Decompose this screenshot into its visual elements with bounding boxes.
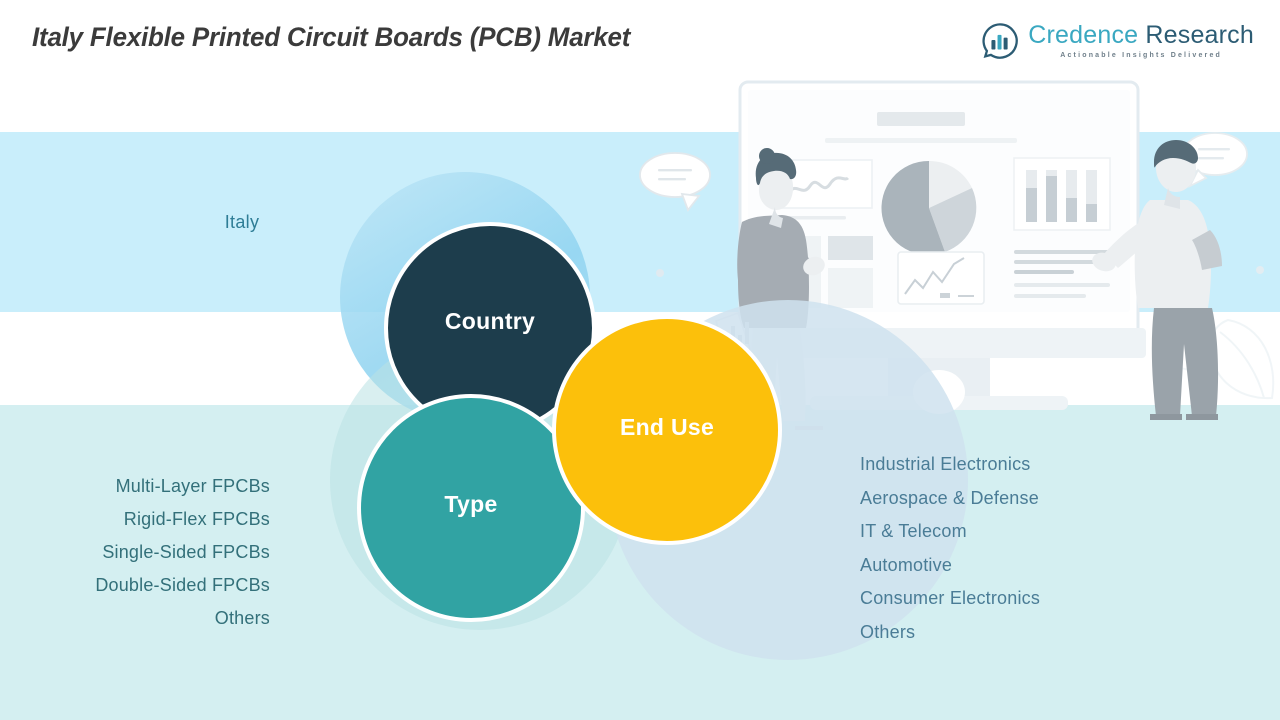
- page-title: Italy Flexible Printed Circuit Boards (P…: [32, 22, 630, 53]
- list-item: IT & Telecom: [860, 515, 1190, 549]
- list-item: Others: [860, 616, 1190, 650]
- venn-label-country: Country: [445, 308, 535, 335]
- list-item: Automotive: [860, 549, 1190, 583]
- venn-label-type: Type: [444, 491, 497, 518]
- list-item: Rigid-Flex FPCBs: [40, 503, 270, 536]
- type-segment-list: Multi-Layer FPCBs Rigid-Flex FPCBs Singl…: [40, 470, 270, 635]
- infographic-canvas: Italy Flexible Printed Circuit Boards (P…: [0, 0, 1280, 720]
- venn-circle-type[interactable]: Type: [357, 394, 585, 622]
- list-item: Multi-Layer FPCBs: [40, 470, 270, 503]
- chart-bubble-icon: [981, 22, 1019, 60]
- list-item: Aerospace & Defense: [860, 482, 1190, 516]
- pie-chart: [881, 161, 976, 255]
- list-item: Others: [40, 602, 270, 635]
- speech-bubble-left: [640, 153, 710, 210]
- venn-circle-end-use[interactable]: End Use: [552, 315, 782, 545]
- logo-name-secondary: Research: [1138, 21, 1254, 49]
- logo-name-primary: Credence: [1028, 21, 1138, 49]
- list-item: Consumer Electronics: [860, 582, 1190, 616]
- list-item: Single-Sided FPCBs: [40, 536, 270, 569]
- country-item-italy: Italy: [182, 212, 302, 233]
- logo-tagline: Actionable Insights Delivered: [1028, 52, 1254, 59]
- brand-logo: Credence Research Actionable Insights De…: [981, 22, 1254, 60]
- venn-label-end-use: End Use: [620, 414, 714, 441]
- logo-name: Credence Research: [1028, 23, 1254, 48]
- end-use-segment-list: Industrial Electronics Aerospace & Defen…: [860, 448, 1190, 649]
- list-item: Industrial Electronics: [860, 448, 1190, 482]
- list-item: Double-Sided FPCBs: [40, 569, 270, 602]
- logo-text: Credence Research Actionable Insights De…: [1028, 23, 1254, 59]
